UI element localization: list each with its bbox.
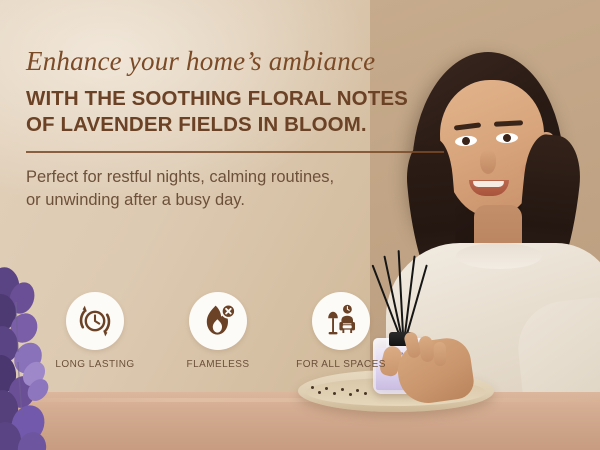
table-edge-highlight	[0, 398, 600, 402]
rule-divider	[26, 151, 444, 153]
feature-long-lasting: LONG LASTING	[50, 292, 140, 370]
copy-block: Enhance your home’s ambiance WITH THE SO…	[26, 46, 456, 213]
sweater-collar	[456, 243, 542, 269]
feature-flameless: FLAMELESS	[173, 292, 263, 370]
lavender-bud	[341, 388, 344, 391]
feature-badge-circle	[66, 292, 124, 350]
feature-badge-circle	[189, 292, 247, 350]
script-headline: Enhance your home’s ambiance	[26, 46, 456, 77]
feature-badges: LONG LASTING FLAMELESS	[50, 292, 386, 370]
lavender-bud	[333, 392, 336, 395]
lavender-bud	[349, 393, 352, 396]
lavender-bud	[356, 389, 359, 392]
feature-label: FOR ALL SPACES	[296, 359, 386, 370]
subcopy-line2: or unwinding after a busy day.	[26, 189, 456, 212]
clock-rotate-icon	[76, 302, 114, 340]
model-nose	[480, 150, 496, 174]
lavender-bud	[325, 387, 328, 390]
lavender-bud	[318, 391, 321, 394]
lamp-armchair-icon	[322, 302, 360, 340]
promo-banner: Soul & Scents LAVENDER	[0, 0, 600, 450]
subcopy-line1: Perfect for restful nights, calming rout…	[26, 166, 456, 189]
lavender-bud	[311, 386, 314, 389]
feature-badge-circle	[312, 292, 370, 350]
bold-headline-line1: WITH THE SOOTHING FLORAL NOTES	[26, 86, 456, 112]
model-finger	[434, 342, 447, 366]
feature-label: LONG LASTING	[55, 359, 134, 370]
bold-headline-line2: OF LAVENDER FIELDS IN BLOOM.	[26, 112, 456, 138]
model-teeth	[473, 181, 504, 187]
flame-no-icon	[199, 302, 237, 340]
feature-label: FLAMELESS	[187, 359, 250, 370]
lavender-bud	[364, 392, 367, 395]
feature-for-all-spaces: FOR ALL SPACES	[296, 292, 386, 370]
